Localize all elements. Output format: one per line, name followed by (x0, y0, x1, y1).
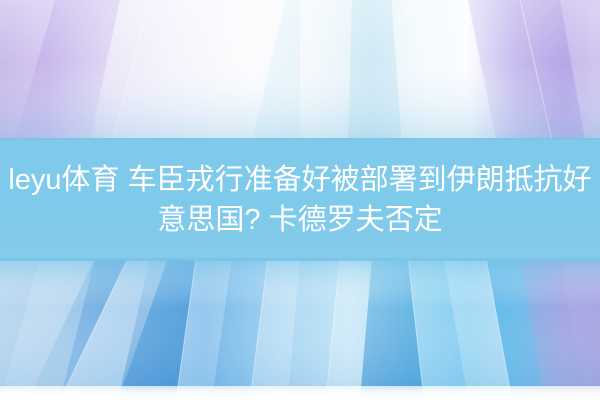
bottom-white-strip (0, 386, 600, 400)
background-bottom-half (0, 258, 600, 400)
headline-text: leyu体育 车臣戎行准备好被部署到伊朗抵抗好意思国? 卡德罗夫否定 (0, 160, 600, 240)
banner-image: leyu体育 车臣戎行准备好被部署到伊朗抵抗好意思国? 卡德罗夫否定 (0, 0, 600, 400)
background-top-half (0, 0, 600, 140)
headline-band: leyu体育 车臣戎行准备好被部署到伊朗抵抗好意思国? 卡德罗夫否定 (0, 138, 600, 261)
